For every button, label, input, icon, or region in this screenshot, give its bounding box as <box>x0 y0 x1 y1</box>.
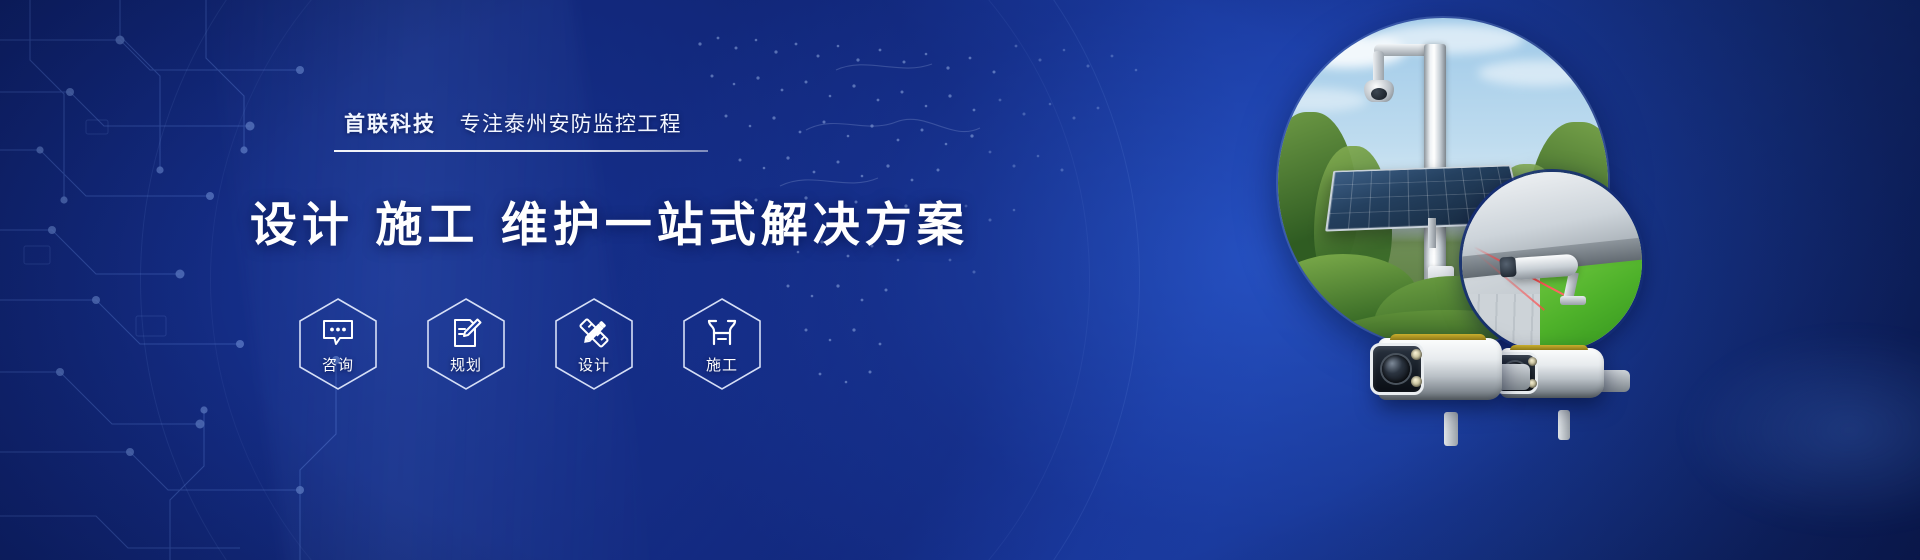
ruler-pencil-icon <box>574 313 614 353</box>
tools-icon <box>702 313 742 353</box>
service-badge-planning[interactable]: 规划 <box>424 296 508 392</box>
service-badge-label: 咨询 <box>322 354 354 375</box>
divider-rule <box>334 150 708 152</box>
hero-text-block: 首联科技 专注泰州安防监控工程 设计 施工 维护一站式解决方案 <box>0 0 860 560</box>
page-title: 设计 施工 维护一站式解决方案 <box>250 186 969 255</box>
document-pen-icon <box>446 313 486 353</box>
bullet-camera-front <box>1378 338 1538 446</box>
service-badge-label: 施工 <box>706 354 738 375</box>
service-badge-design[interactable]: 设计 <box>552 296 636 392</box>
service-badge-label: 规划 <box>450 354 482 375</box>
service-badge-row: 咨询 规划 <box>296 296 764 392</box>
media-glow <box>1680 330 1920 530</box>
subtitle-tagline: 专注泰州安防监控工程 <box>460 112 682 136</box>
service-badge-consult[interactable]: 咨询 <box>296 296 380 392</box>
service-badge-label: 设计 <box>578 354 610 375</box>
service-badge-construction[interactable]: 施工 <box>680 296 764 392</box>
subtitle-row: 首联科技 专注泰州安防监控工程 <box>344 108 716 138</box>
eave-mounted-camera-photo <box>1462 172 1642 352</box>
brand-name: 首联科技 <box>344 112 436 136</box>
subtitle: 首联科技 专注泰州安防监控工程 <box>344 108 716 138</box>
hero-banner: 首联科技 专注泰州安防监控工程 设计 施工 维护一站式解决方案 <box>0 0 1920 560</box>
chat-bubble-icon <box>318 313 358 353</box>
hero-media-group <box>1160 0 1920 560</box>
